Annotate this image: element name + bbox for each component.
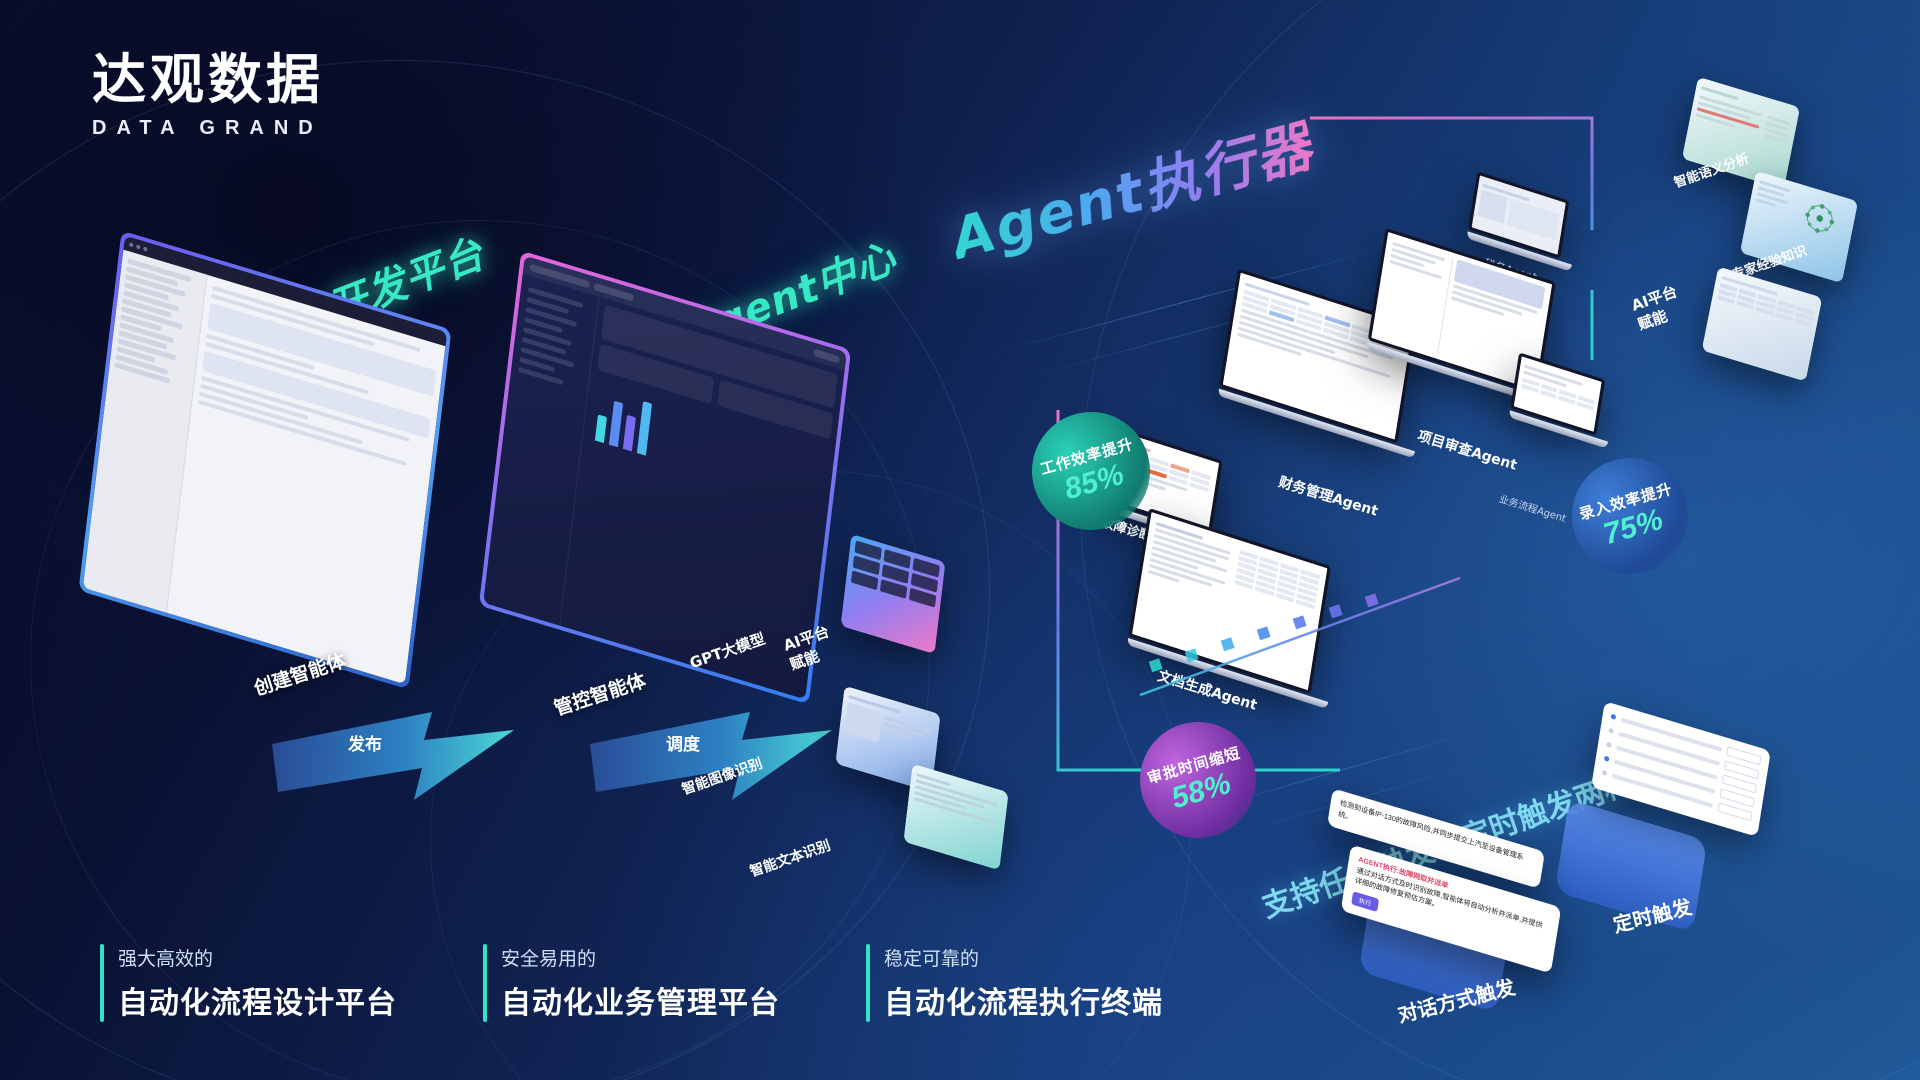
schedule-arrow bbox=[582, 700, 852, 810]
publish-arrow-label: 发布 bbox=[348, 730, 382, 755]
radio-icon[interactable] bbox=[1608, 728, 1614, 735]
brand-name-en: DATA GRAND bbox=[92, 117, 324, 140]
publish-arrow bbox=[264, 700, 534, 810]
caption-accent-bar bbox=[866, 944, 870, 1022]
radio-icon[interactable] bbox=[1602, 770, 1608, 777]
radio-icon[interactable] bbox=[1606, 742, 1612, 749]
window-dot-icon bbox=[129, 242, 133, 247]
brand-logo: 达观数据 DATA GRAND bbox=[92, 52, 324, 140]
caption-accent-bar bbox=[100, 944, 104, 1022]
window-dot-icon bbox=[136, 244, 140, 249]
radio-icon[interactable] bbox=[1604, 756, 1610, 763]
radio-icon[interactable] bbox=[1610, 714, 1616, 721]
schedule-arrow-label: 调度 bbox=[666, 730, 700, 755]
infographic-canvas: 达观数据 DATA GRAND Agent开发平台 bbox=[0, 0, 1920, 1080]
caption-sub: 稳定可靠的 bbox=[884, 944, 1163, 971]
caption-design-platform: 强大高效的 自动化流程设计平台 bbox=[100, 944, 397, 1022]
caption-main: 自动化流程设计平台 bbox=[118, 978, 397, 1022]
trigger-execute-button[interactable]: 执行 bbox=[1351, 891, 1379, 912]
bottom-captions: 强大高效的 自动化流程设计平台 安全易用的 自动化业务管理平台 稳定可靠的 自动… bbox=[100, 944, 1163, 1022]
caption-main: 自动化流程执行终端 bbox=[884, 978, 1163, 1022]
caption-execution-terminal: 稳定可靠的 自动化流程执行终端 bbox=[866, 944, 1163, 1022]
caption-sub: 强大高效的 bbox=[118, 944, 397, 971]
window-dot-icon bbox=[143, 246, 147, 251]
brand-name-cn: 达观数据 bbox=[92, 52, 324, 109]
caption-management-platform: 安全易用的 自动化业务管理平台 bbox=[483, 944, 780, 1022]
caption-accent-bar bbox=[483, 944, 487, 1022]
canvas-panel bbox=[167, 275, 446, 684]
caption-main: 自动化业务管理平台 bbox=[501, 978, 780, 1022]
caption-sub: 安全易用的 bbox=[501, 944, 780, 971]
